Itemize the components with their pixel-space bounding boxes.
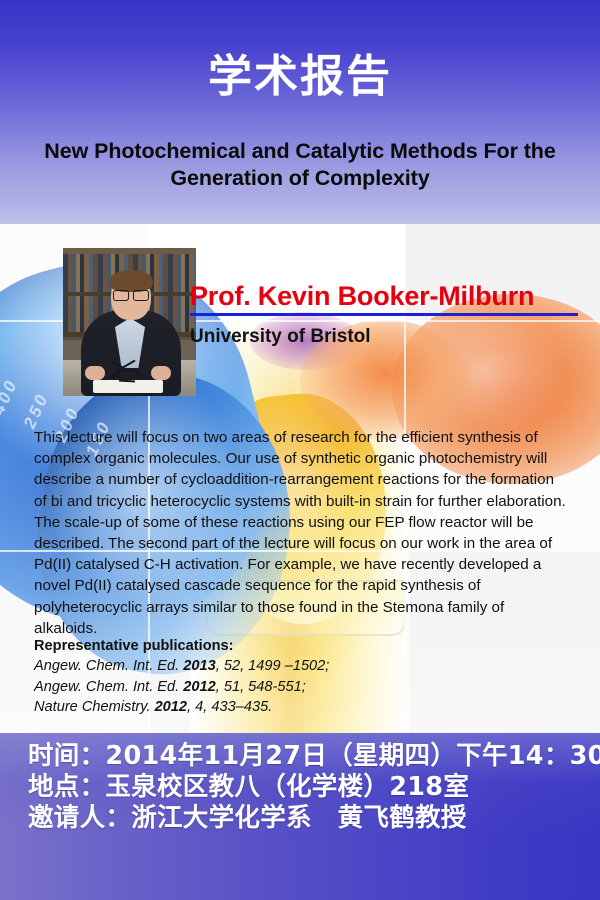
photo-hair [109, 270, 153, 292]
publication-year: 2013 [183, 658, 215, 674]
publication-item: Nature Chemistry. 2012, 4, 433–435. [34, 697, 454, 717]
speaker-name: Prof. Kevin Booker-Milburn [190, 281, 534, 312]
publication-journal: Nature Chemistry. [34, 699, 155, 715]
publication-citation-rest: , 52, 1499 –1502; [216, 658, 330, 674]
publication-journal: Angew. Chem. Int. Ed. [34, 679, 183, 695]
publication-journal: Angew. Chem. Int. Ed. [34, 658, 183, 674]
glasses-icon [113, 290, 149, 299]
poster-footer: 时间：2014年11月27日（星期四）下午14：30 地点：玉泉校区教八（化学楼… [0, 733, 600, 900]
publication-item: Angew. Chem. Int. Ed. 2013, 52, 1499 –15… [34, 656, 454, 676]
speaker-affiliation: University of Bristol [190, 326, 371, 348]
publication-year: 2012 [155, 699, 187, 715]
publications-list: Angew. Chem. Int. Ed. 2013, 52, 1499 –15… [34, 656, 454, 717]
publication-item: Angew. Chem. Int. Ed. 2012, 51, 548-551; [34, 677, 454, 697]
publication-citation-rest: , 4, 433–435. [187, 699, 272, 715]
footer-host-line: 邀请人：浙江大学化学系 黄飞鹤教授 [28, 803, 588, 834]
page-title-chinese: 学术报告 [0, 52, 600, 103]
poster-header: 学术报告 New Photochemical and Catalytic Met… [0, 0, 600, 224]
publications-heading: Representative publications: [34, 636, 454, 656]
molecule-model-icon [107, 360, 147, 386]
footer-details: 时间：2014年11月27日（星期四）下午14：30 地点：玉泉校区教八（化学楼… [28, 741, 588, 834]
photo-right-hand [151, 366, 171, 380]
publications-block: Representative publications: Angew. Chem… [34, 636, 454, 718]
page-title-english: New Photochemical and Catalytic Methods … [28, 138, 572, 192]
publication-citation-rest: , 51, 548-551; [216, 679, 306, 695]
speaker-name-underline [190, 313, 578, 316]
footer-venue-line: 地点：玉泉校区教八（化学楼）218室 [28, 772, 588, 803]
abstract-text: This lecture will focus on two areas of … [34, 427, 568, 639]
poster-root: 学术报告 New Photochemical and Catalytic Met… [0, 0, 600, 900]
publication-year: 2012 [183, 679, 215, 695]
speaker-photo [63, 248, 196, 396]
footer-time-line: 时间：2014年11月27日（星期四）下午14：30 [28, 741, 588, 772]
photo-left-hand [85, 366, 105, 380]
